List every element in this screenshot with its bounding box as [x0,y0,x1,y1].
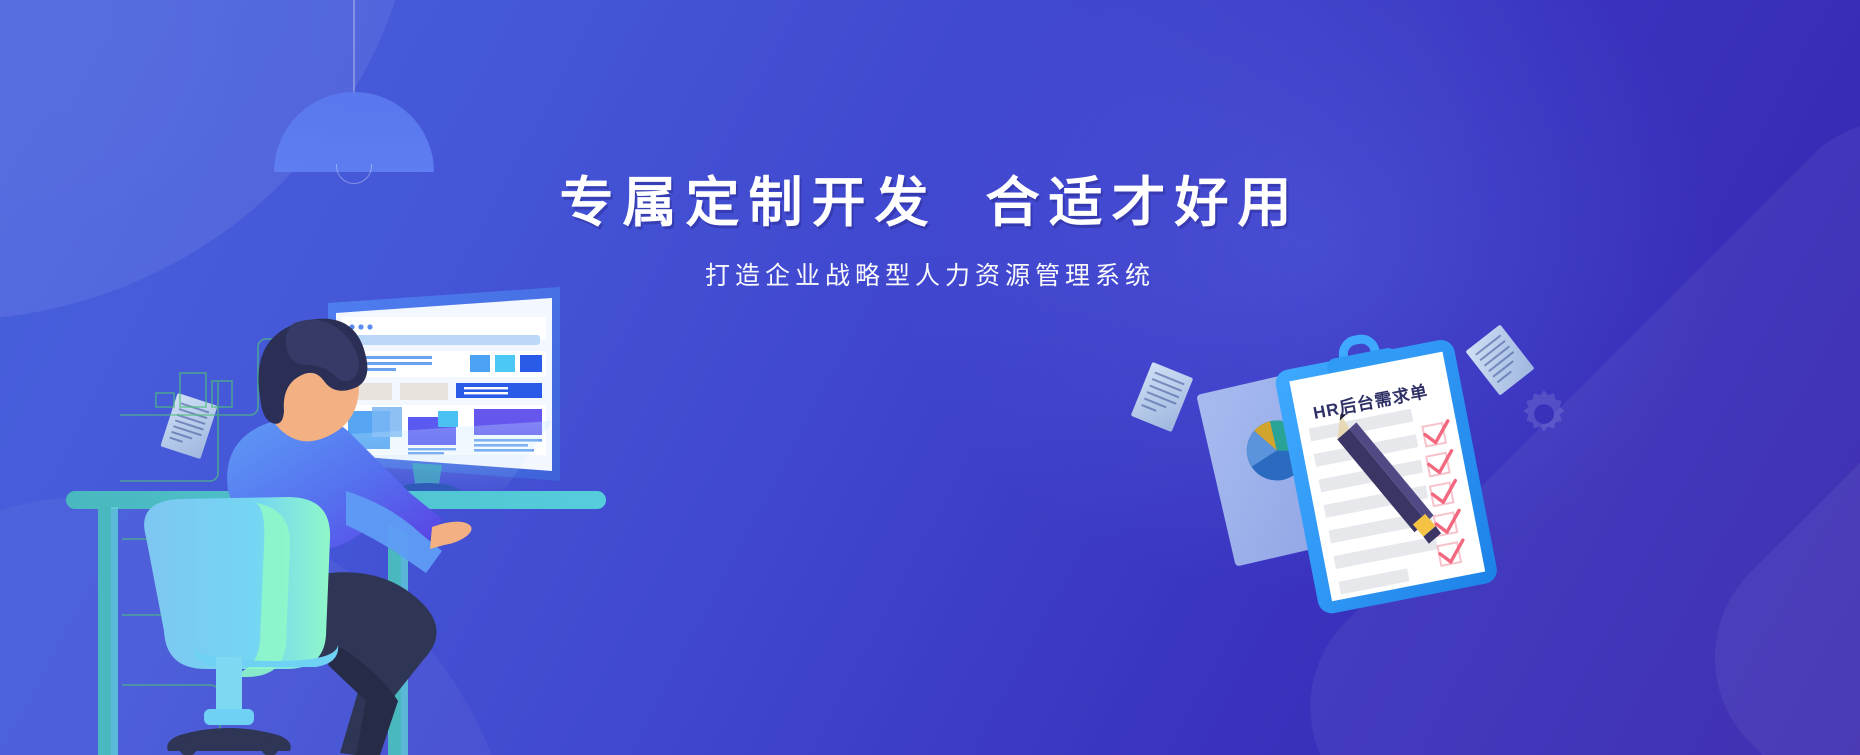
hr-clipboard-illustration [1190,330,1550,630]
office-chair [144,497,338,755]
person-at-desk-illustration [60,285,680,755]
clipboard [1270,330,1499,616]
lamp-cord [353,0,355,96]
hero-banner: 专属定制开发 合适才好用 打造企业战略型人力资源管理系统 [0,0,1860,755]
